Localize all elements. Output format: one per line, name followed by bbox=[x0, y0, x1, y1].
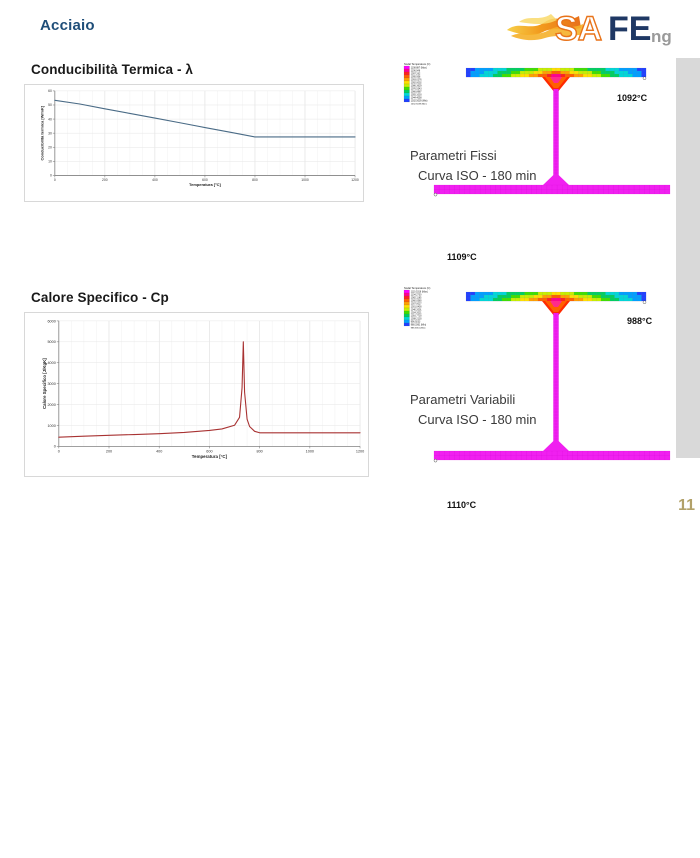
svg-text:1055.1003: 1055.1003 bbox=[411, 94, 423, 96]
svg-text:988.3361 (Min): 988.3361 (Min) bbox=[411, 328, 426, 330]
svg-text:1104.2730: 1104.2730 bbox=[411, 294, 422, 296]
safe-logo: SA FE ng bbox=[505, 2, 680, 48]
svg-text:1097.262: 1097.262 bbox=[411, 73, 421, 75]
svg-text:4000: 4000 bbox=[47, 361, 55, 365]
svg-text:1024.2021: 1024.2021 bbox=[411, 312, 423, 314]
svg-text:1086.3629: 1086.3629 bbox=[411, 85, 423, 87]
slide-canvas: Acciaio SA FE ng Conducibilità Termica -… bbox=[0, 0, 700, 523]
svg-text:30: 30 bbox=[48, 131, 52, 135]
temp-label-1109: 1109°C bbox=[447, 252, 477, 262]
chart2-plot-area: 0200400600800100012000100020003000400050… bbox=[25, 313, 368, 476]
svg-text:1106.046: 1106.046 bbox=[411, 70, 421, 72]
svg-text:0: 0 bbox=[54, 445, 56, 449]
svg-text:1044.4058: 1044.4058 bbox=[411, 97, 423, 99]
svg-text:1000: 1000 bbox=[301, 178, 309, 182]
svg-text:800: 800 bbox=[256, 450, 262, 454]
svg-text:1032.5039 (Min): 1032.5039 (Min) bbox=[411, 104, 427, 106]
svg-text:0: 0 bbox=[50, 174, 52, 178]
svg-text:600: 600 bbox=[206, 450, 212, 454]
svg-text:200: 200 bbox=[106, 450, 112, 454]
svg-text:1060.0580: 1060.0580 bbox=[411, 300, 423, 302]
svg-text:1200: 1200 bbox=[351, 178, 359, 182]
svg-text:1200: 1200 bbox=[356, 450, 364, 454]
svg-text:800: 800 bbox=[252, 178, 258, 182]
chart-calore-specifico: 0200400600800100012000100020003000400050… bbox=[24, 312, 369, 477]
svg-text:1110.5316 (Max): 1110.5316 (Max) bbox=[411, 291, 428, 293]
page-number: 11 bbox=[678, 497, 695, 515]
temp-label-1092: 1092°C bbox=[617, 93, 647, 103]
svg-text:40: 40 bbox=[48, 117, 52, 121]
svg-text:1000: 1000 bbox=[47, 424, 55, 428]
svg-text:0: 0 bbox=[54, 178, 56, 182]
svg-text:1000: 1000 bbox=[306, 450, 314, 454]
logo-text-fe: FE bbox=[608, 10, 651, 48]
svg-text:Calore Specifico [J/KgK]: Calore Specifico [J/KgK] bbox=[42, 358, 47, 409]
svg-text:1076.5343: 1076.5343 bbox=[411, 88, 423, 90]
svg-text:400: 400 bbox=[152, 178, 158, 182]
svg-text:1082.1165: 1082.1165 bbox=[411, 297, 422, 299]
caption-parametri-variabili-line1: Parametri Variabili bbox=[410, 392, 515, 407]
sidebar-band bbox=[676, 58, 700, 458]
page-title: Acciaio bbox=[40, 17, 95, 34]
caption-parametri-fissi-line2: Curva ISO - 180 min bbox=[418, 168, 537, 183]
heading-calore-specifico: Calore Specifico - Cp bbox=[31, 290, 169, 305]
svg-text:Nodal Temperature (C): Nodal Temperature (C) bbox=[404, 62, 430, 66]
svg-text:1032.5039 (Min): 1032.5039 (Min) bbox=[411, 100, 428, 102]
temp-label-988: 988°C bbox=[627, 316, 652, 326]
chart1-plot-area: 0200400600800100012000102030405060Temper… bbox=[25, 85, 363, 201]
heading-conducibilita: Conducibilità Termica - λ bbox=[31, 62, 193, 77]
logo-text-ng: ng bbox=[651, 27, 672, 46]
svg-text:10: 10 bbox=[48, 160, 52, 164]
svg-text:Temperatura [°C]: Temperatura [°C] bbox=[192, 454, 228, 459]
svg-text:1092.0002: 1092.0002 bbox=[411, 82, 423, 84]
svg-text:1095.958: 1095.958 bbox=[411, 76, 421, 78]
svg-text:0: 0 bbox=[58, 450, 60, 454]
svg-text:Nodal Temperature (C): Nodal Temperature (C) bbox=[404, 286, 430, 290]
temp-label-1110: 1110°C bbox=[447, 500, 476, 510]
svg-text:996.9233: 996.9233 bbox=[411, 321, 421, 323]
caption-parametri-variabili-line2: Curva ISO - 180 min bbox=[418, 412, 537, 427]
chart-conducibilita-termica: 0200400600800100012000102030405060Temper… bbox=[24, 84, 364, 202]
svg-text:988.3361 (Min): 988.3361 (Min) bbox=[411, 324, 427, 326]
svg-text:1040.2001: 1040.2001 bbox=[411, 309, 423, 311]
svg-text:Temperatura [°C]: Temperatura [°C] bbox=[189, 182, 222, 187]
svg-text:60: 60 bbox=[48, 89, 52, 93]
svg-text:1066.8987: 1066.8987 bbox=[411, 91, 423, 93]
caption-parametri-fissi-line1: Parametri Fissi bbox=[410, 148, 497, 163]
svg-text:5000: 5000 bbox=[47, 340, 55, 344]
svg-text:Conducibilità termica [W/mK]: Conducibilità termica [W/mK] bbox=[39, 105, 44, 160]
svg-text:1001.0400: 1001.0400 bbox=[411, 306, 423, 308]
svg-text:200: 200 bbox=[102, 178, 108, 182]
svg-text:1008.2130: 1008.2130 bbox=[411, 318, 423, 320]
svg-text:20: 20 bbox=[48, 145, 52, 149]
svg-text:1007.0027: 1007.0027 bbox=[411, 303, 423, 305]
svg-text:50: 50 bbox=[48, 103, 52, 107]
svg-text:1093.0276: 1093.0276 bbox=[411, 79, 423, 81]
logo-text-sa: SA bbox=[555, 10, 602, 48]
svg-text:6000: 6000 bbox=[47, 319, 55, 323]
svg-text:2000: 2000 bbox=[47, 403, 55, 407]
svg-text:1016.7730: 1016.7730 bbox=[411, 315, 423, 317]
svg-text:3000: 3000 bbox=[47, 382, 55, 386]
svg-text:1108.887 (Max): 1108.887 (Max) bbox=[411, 67, 427, 69]
svg-text:400: 400 bbox=[156, 450, 162, 454]
